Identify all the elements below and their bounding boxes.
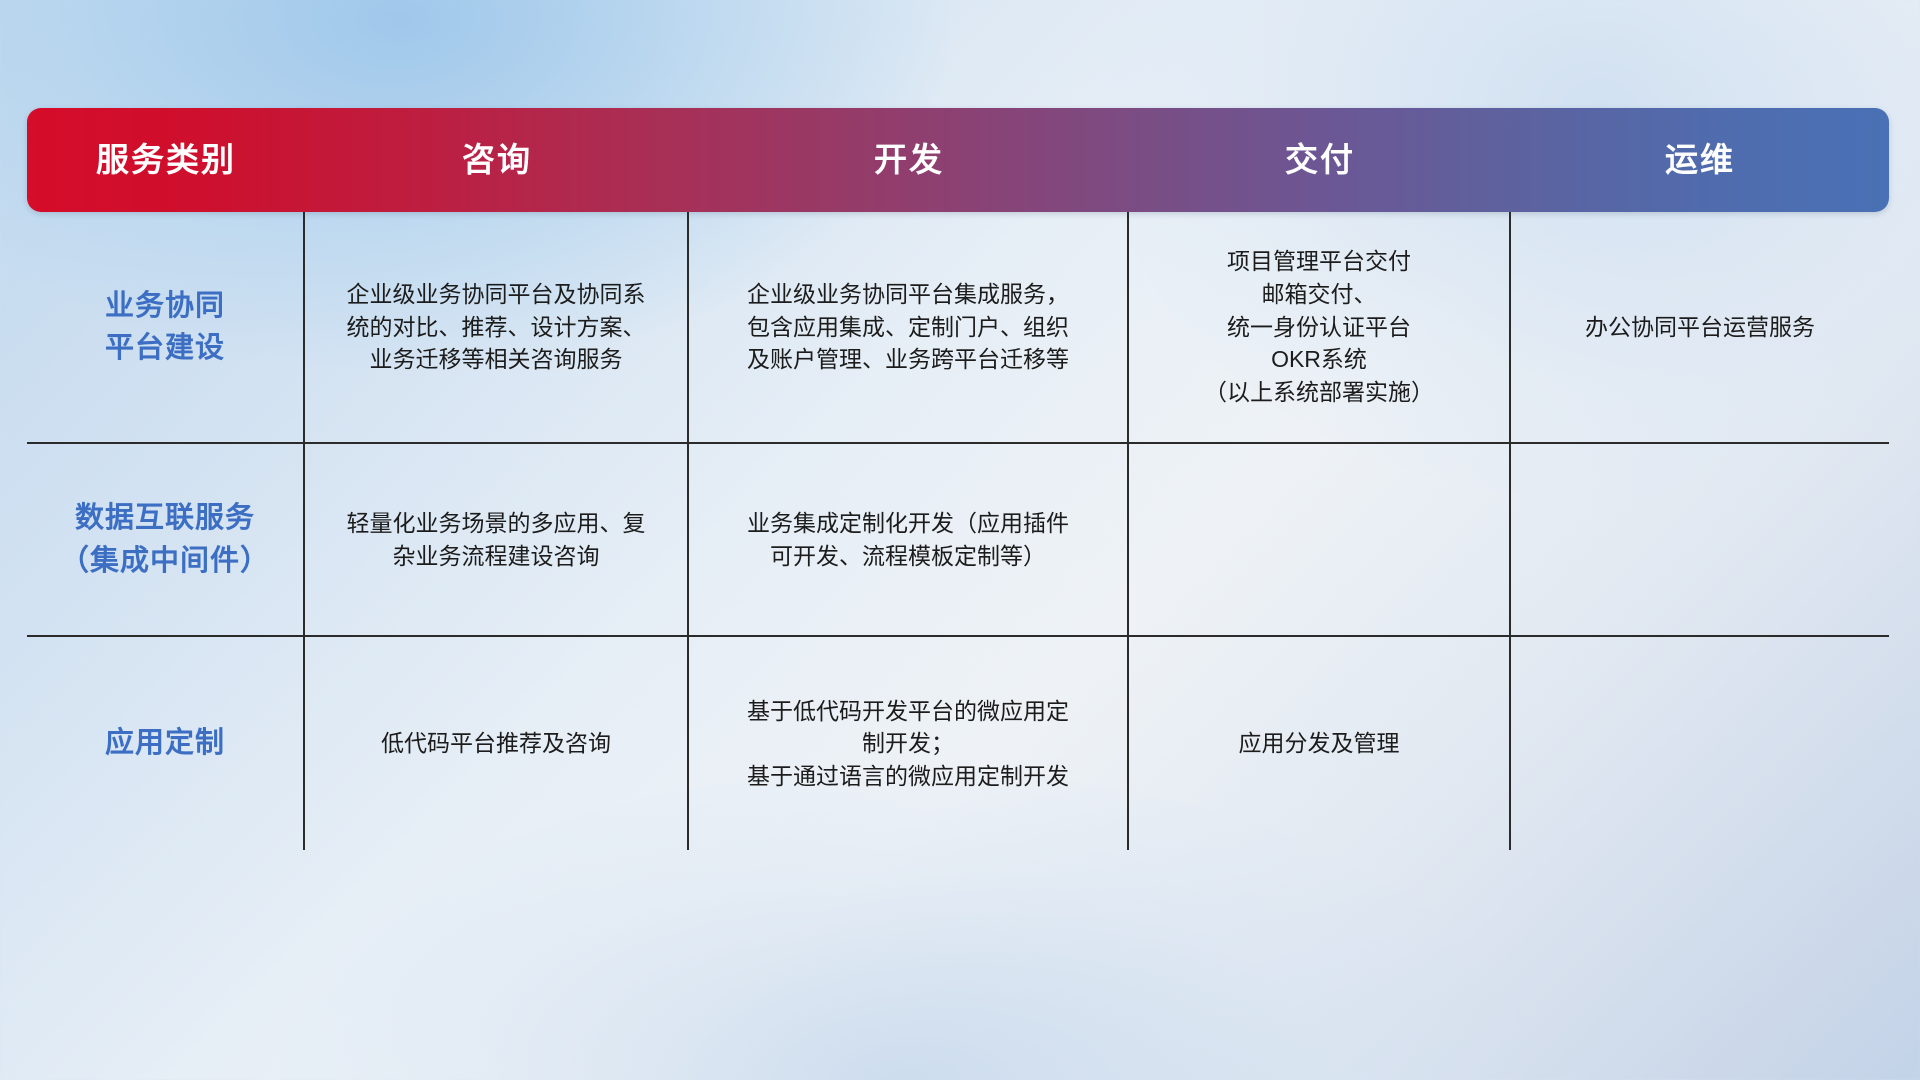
table-row: 应用定制 低代码平台推荐及咨询 基于低代码开发平台的微应用定 制开发； 基于通过…	[27, 637, 1889, 850]
header-cell-category: 服务类别	[27, 108, 305, 212]
cell-consulting-2: 轻量化业务场景的多应用、复 杂业务流程建设咨询	[305, 444, 689, 637]
cell-category-1: 业务协同 平台建设	[27, 212, 305, 444]
cell-consulting-1: 企业级业务协同平台及协同系 统的对比、推荐、设计方案、 业务迁移等相关咨询服务	[305, 212, 689, 444]
cell-operations-3	[1511, 637, 1889, 850]
cell-delivery-1: 项目管理平台交付 邮箱交付、 统一身份认证平台 OKR系统 （以上系统部署实施）	[1129, 212, 1511, 444]
cell-consulting-3: 低代码平台推荐及咨询	[305, 637, 689, 850]
header-cell-operations: 运维	[1511, 108, 1889, 212]
service-matrix: 服务类别 咨询 开发 交付 运维 业务协同 平台建设 企业级业务协同平台及协同	[27, 108, 1889, 950]
table-body: 业务协同 平台建设 企业级业务协同平台及协同系 统的对比、推荐、设计方案、 业务…	[27, 212, 1889, 850]
cell-delivery-3: 应用分发及管理	[1129, 637, 1511, 850]
header-label-delivery: 交付	[1129, 108, 1511, 212]
header-label-category: 服务类别	[27, 108, 305, 212]
cell-development-3: 基于低代码开发平台的微应用定 制开发； 基于通过语言的微应用定制开发	[689, 637, 1129, 850]
header-label-development: 开发	[689, 108, 1129, 212]
header-label-consulting: 咨询	[305, 108, 689, 212]
cell-category-3: 应用定制	[27, 637, 305, 850]
cell-category-2: 数据互联服务 （集成中间件）	[27, 444, 305, 637]
table-row: 业务协同 平台建设 企业级业务协同平台及协同系 统的对比、推荐、设计方案、 业务…	[27, 212, 1889, 444]
cell-operations-2	[1511, 444, 1889, 637]
header-cell-delivery: 交付	[1129, 108, 1511, 212]
cell-delivery-2	[1129, 444, 1511, 637]
table-header: 服务类别 咨询 开发 交付 运维	[27, 108, 1889, 212]
cell-development-2: 业务集成定制化开发（应用插件 可开发、流程模板定制等）	[689, 444, 1129, 637]
header-row: 服务类别 咨询 开发 交付 运维	[27, 108, 1889, 212]
service-matrix-table: 服务类别 咨询 开发 交付 运维 业务协同 平台建设 企业级业务协同平台及协同	[27, 108, 1889, 850]
cell-development-1: 企业级业务协同平台集成服务， 包含应用集成、定制门户、组织 及账户管理、业务跨平…	[689, 212, 1129, 444]
header-cell-development: 开发	[689, 108, 1129, 212]
cell-operations-1: 办公协同平台运营服务	[1511, 212, 1889, 444]
header-cell-consulting: 咨询	[305, 108, 689, 212]
header-label-operations: 运维	[1511, 108, 1889, 212]
table-row: 数据互联服务 （集成中间件） 轻量化业务场景的多应用、复 杂业务流程建设咨询 业…	[27, 444, 1889, 637]
